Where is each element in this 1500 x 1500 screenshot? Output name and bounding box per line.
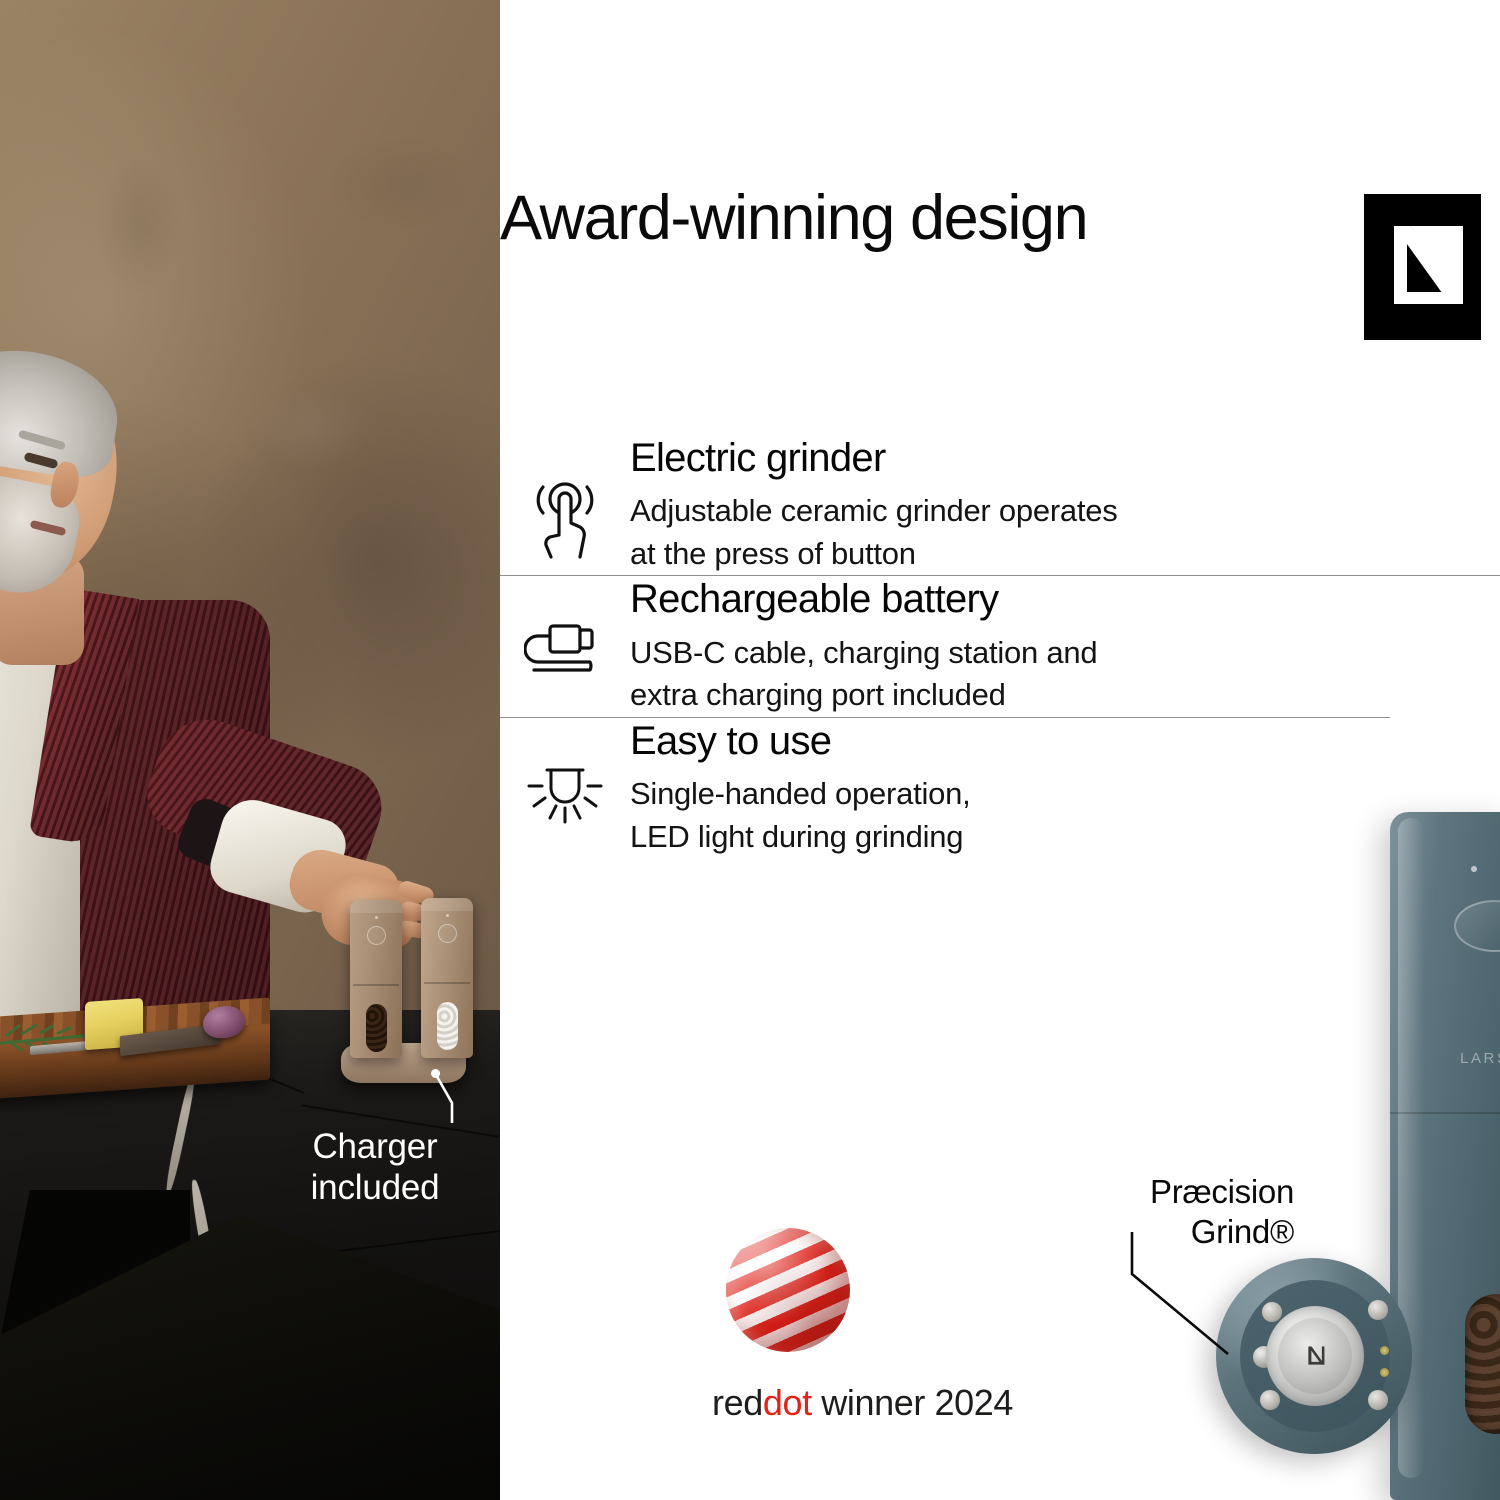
reddot-award-badge: reddot winner 2024 — [712, 1228, 1082, 1424]
feature-desc-line1: USB-C cable, charging station and — [630, 632, 1470, 674]
charger-callout-line1: Charger — [270, 1127, 480, 1168]
peppercorn-window — [1465, 1294, 1500, 1434]
usb-cable-icon — [524, 618, 606, 680]
feature-item-easy-to-use: Easy to use Single-handed operation, LED… — [500, 718, 1500, 858]
feature-desc-line2: extra charging port included — [630, 674, 1470, 716]
feature-desc-line2: LED light during grinding — [630, 816, 1470, 858]
feature-icon-slot — [500, 718, 630, 832]
feature-item-electric-grinder: Electric grinder Adjustable ceramic grin… — [500, 435, 1500, 575]
feature-text: Easy to use Single-handed operation, LED… — [630, 718, 1500, 858]
reddot-award-label: reddot winner 2024 — [712, 1382, 1082, 1424]
reddot-sphere-icon — [726, 1228, 850, 1352]
charger-leader-dot — [431, 1069, 440, 1078]
feature-icon-slot — [500, 576, 630, 680]
led-light-icon — [525, 760, 605, 832]
feature-description: Adjustable ceramic grinder operates at t… — [630, 490, 1470, 575]
feature-item-rechargeable-battery: Rechargeable battery USB-C cable, chargi… — [500, 576, 1500, 716]
feature-desc-line1: Adjustable ceramic grinder operates — [630, 490, 1470, 532]
feature-description: Single-handed operation, LED light durin… — [630, 773, 1470, 858]
charger-callout-line2: included — [270, 1168, 480, 1209]
charger-callout: Charger included — [270, 1127, 480, 1209]
reddot-word-red: red — [712, 1382, 763, 1423]
base-screw — [1260, 1390, 1280, 1410]
reddot-word-rest: winner 2024 — [812, 1382, 1013, 1423]
lifestyle-photo: Charger included — [0, 0, 500, 1500]
charger-leader-line — [0, 0, 500, 1500]
charging-contact — [1380, 1346, 1389, 1355]
feature-description: USB-C cable, charging station and extra … — [630, 632, 1470, 717]
feature-text: Rechargeable battery USB-C cable, chargi… — [630, 576, 1500, 716]
ln-monogram-icon — [1364, 194, 1481, 340]
grinder-power-button — [1454, 900, 1500, 952]
feature-title: Easy to use — [630, 718, 1470, 764]
product-engraving: LARS NYS — [1460, 1050, 1500, 1067]
feature-text: Electric grinder Adjustable ceramic grin… — [630, 435, 1500, 575]
feature-desc-line2: at the press of button — [630, 533, 1470, 575]
brand-logo — [1364, 194, 1481, 340]
precision-leader-line — [1130, 1232, 1330, 1372]
led-indicator-icon — [1471, 866, 1477, 872]
grinder-seam — [1390, 1112, 1500, 1114]
feature-desc-line1: Single-handed operation, — [630, 773, 1470, 815]
page-title: Award-winning design — [500, 183, 1100, 254]
pepper-grinder-blue: LARS NYS — [1390, 812, 1500, 1500]
base-screw — [1368, 1390, 1388, 1410]
base-screw — [1368, 1300, 1388, 1320]
feature-icon-slot — [500, 435, 630, 559]
precision-callout-line1: Præcision — [1034, 1172, 1294, 1212]
charging-contact — [1380, 1368, 1389, 1377]
product-marketing-image: Charger included Award-winning design — [0, 0, 1500, 1500]
tap-press-icon — [528, 477, 602, 559]
feature-title: Electric grinder — [630, 435, 1470, 481]
feature-list: Electric grinder Adjustable ceramic grin… — [500, 435, 1500, 858]
feature-title: Rechargeable battery — [630, 576, 1470, 622]
reddot-word-dot: dot — [763, 1382, 812, 1423]
